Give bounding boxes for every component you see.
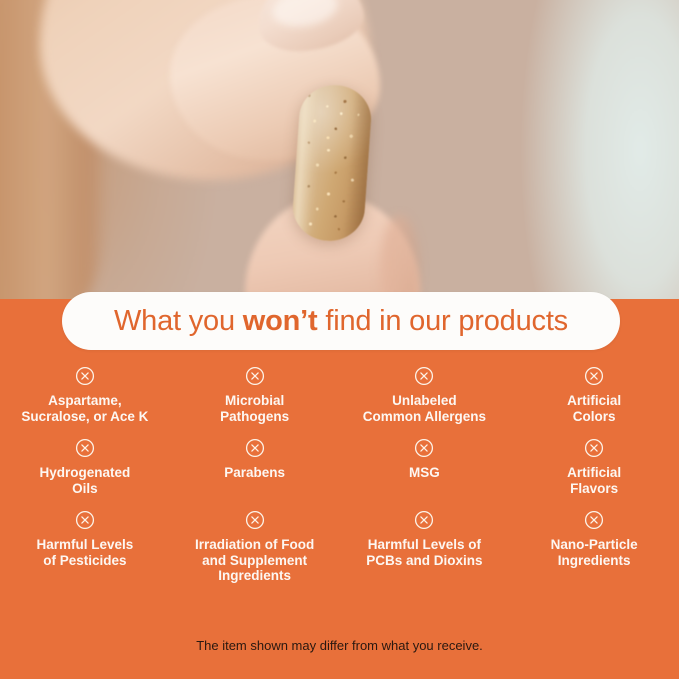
list-item: Artificial Flavors xyxy=(509,438,679,496)
circle-x-icon xyxy=(584,366,604,386)
product-photo xyxy=(0,0,679,300)
circle-x-icon xyxy=(584,510,604,530)
list-item-label: Nano-Particle Ingredients xyxy=(551,537,638,568)
list-item-label: Parabens xyxy=(224,465,285,481)
circle-x-icon xyxy=(245,366,265,386)
product-claims-infographic: What you won’t find in our products Aspa… xyxy=(0,0,679,679)
headline-banner: What you won’t find in our products xyxy=(62,292,620,350)
list-item: Aspartame, Sucralose, or Ace K xyxy=(0,366,170,424)
supplement-tablet xyxy=(291,83,374,244)
circle-x-icon xyxy=(75,438,95,458)
list-item: Nano-Particle Ingredients xyxy=(509,510,679,584)
circle-x-icon xyxy=(245,438,265,458)
list-item: Parabens xyxy=(170,438,340,496)
list-item: Harmful Levels of Pesticides xyxy=(0,510,170,584)
list-item-label: Artificial Flavors xyxy=(567,465,621,496)
list-item: Harmful Levels of PCBs and Dioxins xyxy=(340,510,510,584)
list-item: Irradiation of Food and Supplement Ingre… xyxy=(170,510,340,584)
circle-x-icon xyxy=(414,510,434,530)
list-item-label: Aspartame, Sucralose, or Ace K xyxy=(21,393,148,424)
headline-suffix: find in our products xyxy=(317,305,568,337)
circle-x-icon xyxy=(245,510,265,530)
circle-x-icon xyxy=(414,438,434,458)
list-item-label: MSG xyxy=(409,465,440,481)
list-item-label: Harmful Levels of Pesticides xyxy=(36,537,133,568)
list-item-label: Irradiation of Food and Supplement Ingre… xyxy=(195,537,314,584)
list-item: Microbial Pathogens xyxy=(170,366,340,424)
list-item-label: Microbial Pathogens xyxy=(220,393,289,424)
list-item: MSG xyxy=(340,438,510,496)
circle-x-icon xyxy=(75,510,95,530)
list-item-label: Unlabeled Common Allergens xyxy=(363,393,486,424)
excluded-ingredients-grid: Aspartame, Sucralose, or Ace K Microbial… xyxy=(0,366,679,584)
list-item: Unlabeled Common Allergens xyxy=(340,366,510,424)
list-item: Hydrogenated Oils xyxy=(0,438,170,496)
page-title: What you won’t find in our products xyxy=(114,305,568,338)
headline-emphasis: won’t xyxy=(243,305,318,337)
list-item-label: Hydrogenated Oils xyxy=(39,465,130,496)
circle-x-icon xyxy=(75,366,95,386)
headline-prefix: What you xyxy=(114,305,243,337)
circle-x-icon xyxy=(584,438,604,458)
list-item: Artificial Colors xyxy=(509,366,679,424)
disclaimer-note: The item shown may differ from what you … xyxy=(0,638,679,653)
list-item-label: Harmful Levels of PCBs and Dioxins xyxy=(366,537,482,568)
list-item-label: Artificial Colors xyxy=(567,393,621,424)
circle-x-icon xyxy=(414,366,434,386)
